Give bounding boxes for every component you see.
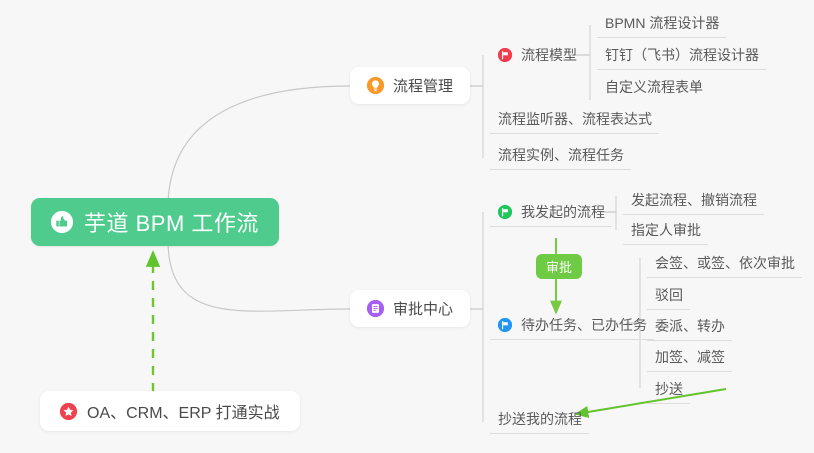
branch-node-approval-center[interactable]: 审批中心 <box>350 290 470 327</box>
node-label-countersign: 会签、或签、依次审批 <box>655 253 795 273</box>
node-label-dingtalk-designer: 钉钉（飞书）流程设计器 <box>605 45 759 65</box>
lightbulb-icon <box>367 77 384 94</box>
callout-label-integration: OA、CRM、ERP 打通实战 <box>87 399 280 423</box>
approval-badge-label: 审批 <box>546 257 572 276</box>
thumbs-up-icon <box>51 211 73 233</box>
root-node[interactable]: 芋道 BPM 工作流 <box>31 198 279 246</box>
flag-icon <box>498 205 512 219</box>
node-start-cancel-process[interactable]: 发起流程、撤销流程 <box>623 185 764 215</box>
node-label-start-cancel-process: 发起流程、撤销流程 <box>631 190 757 210</box>
star-icon <box>60 403 77 420</box>
node-label-reject: 驳回 <box>655 285 683 305</box>
approval-badge: 审批 <box>536 254 582 279</box>
document-icon <box>367 300 384 317</box>
node-add-remove-sign[interactable]: 加签、减签 <box>647 342 732 372</box>
node-countersign[interactable]: 会签、或签、依次审批 <box>647 248 802 278</box>
node-label-process-model: 流程模型 <box>521 45 577 65</box>
node-label-assignee-approval: 指定人审批 <box>631 220 701 240</box>
callout-node-integration[interactable]: OA、CRM、ERP 打通实战 <box>40 391 300 431</box>
node-bpmn-designer[interactable]: BPMN 流程设计器 <box>597 8 726 38</box>
node-cc[interactable]: 抄送 <box>647 374 690 404</box>
node-label-bpmn-designer: BPMN 流程设计器 <box>605 13 719 33</box>
node-label-delegate-transfer: 委派、转办 <box>655 316 725 336</box>
node-label-process-listener: 流程监听器、流程表达式 <box>498 109 652 129</box>
node-custom-form[interactable]: 自定义流程表单 <box>597 72 710 102</box>
connector-root-to-process-management <box>168 86 350 205</box>
branch-label-process-management: 流程管理 <box>393 75 453 96</box>
branch-node-process-management[interactable]: 流程管理 <box>350 67 470 104</box>
flag-icon <box>498 48 512 62</box>
node-my-initiated-process[interactable]: 我发起的流程 <box>490 197 612 227</box>
node-dingtalk-designer[interactable]: 钉钉（飞书）流程设计器 <box>597 40 766 70</box>
node-process-listener[interactable]: 流程监听器、流程表达式 <box>490 104 659 134</box>
flag-icon <box>498 318 512 332</box>
node-todo-done-tasks[interactable]: 待办任务、已办任务 <box>490 310 654 340</box>
mindmap-canvas: 芋道 BPM 工作流 流程管理 流程模型 BPMN 流程设计器 钉钉（飞书）流程 <box>0 0 814 453</box>
node-label-cc-my-process: 抄送我的流程 <box>498 409 582 429</box>
node-label-custom-form: 自定义流程表单 <box>605 77 703 97</box>
node-label-my-initiated-process: 我发起的流程 <box>521 202 605 222</box>
node-label-todo-done-tasks: 待办任务、已办任务 <box>521 315 647 335</box>
node-label-cc: 抄送 <box>655 379 683 399</box>
node-delegate-transfer[interactable]: 委派、转办 <box>647 311 732 341</box>
connector-root-to-approval-center <box>168 243 350 311</box>
node-label-process-instance: 流程实例、流程任务 <box>498 145 624 165</box>
root-node-label: 芋道 BPM 工作流 <box>84 206 259 238</box>
node-assignee-approval[interactable]: 指定人审批 <box>623 215 708 245</box>
branch-label-approval-center: 审批中心 <box>393 298 453 319</box>
node-cc-my-process[interactable]: 抄送我的流程 <box>490 404 589 434</box>
node-reject[interactable]: 驳回 <box>647 280 690 310</box>
node-process-model[interactable]: 流程模型 <box>490 40 584 70</box>
node-label-add-remove-sign: 加签、减签 <box>655 347 725 367</box>
node-process-instance[interactable]: 流程实例、流程任务 <box>490 140 631 170</box>
